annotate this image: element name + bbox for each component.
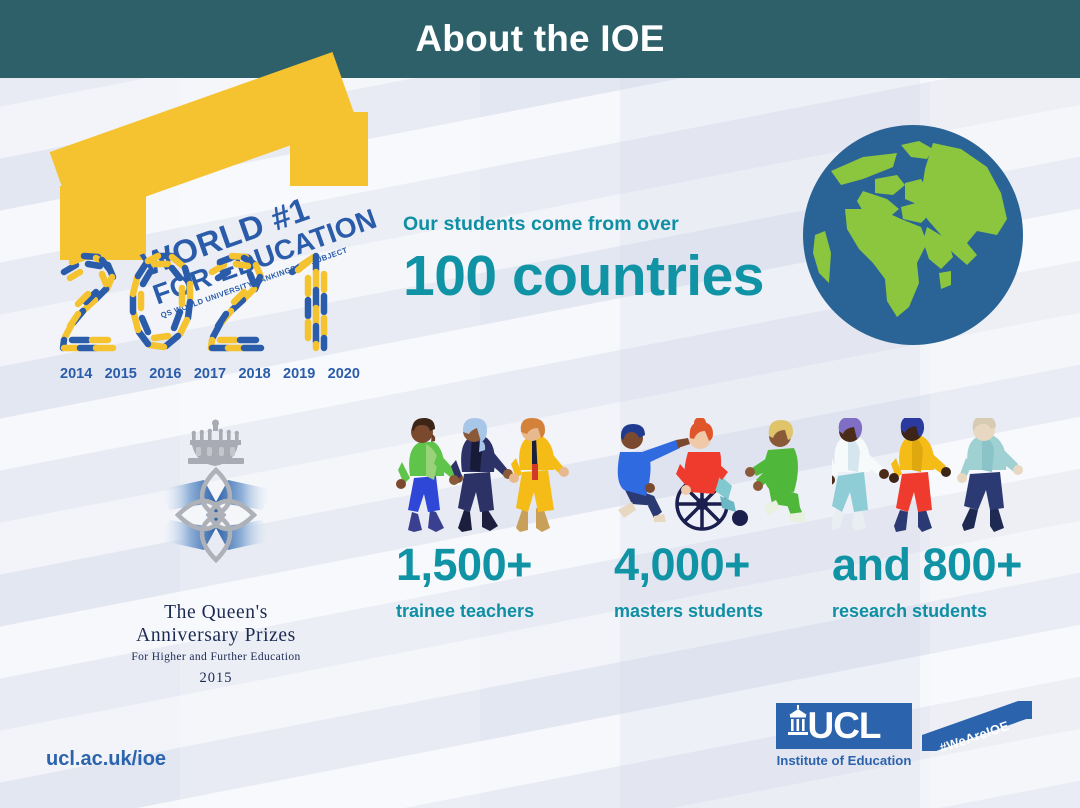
digit-2-a xyxy=(63,254,118,348)
person-yellow xyxy=(509,418,569,532)
year-label: 2019 xyxy=(283,366,315,382)
stat-value: 4,000+ xyxy=(614,542,814,587)
person-teal-navy xyxy=(957,418,1023,532)
previous-years-row: 2014 2015 2016 2017 2018 2019 2020 xyxy=(60,366,360,382)
year-digits-dashes xyxy=(58,248,358,360)
stat-label: trainee teachers xyxy=(396,601,596,622)
stat-value: 1,500+ xyxy=(396,542,596,587)
walking-people-icon xyxy=(832,418,1032,536)
person-wheelchair xyxy=(676,418,748,529)
seated-people-wheelchair-icon xyxy=(614,418,814,536)
walking-people-icon xyxy=(396,418,596,536)
queens-prize-line-3: For Higher and Further Education xyxy=(118,651,314,665)
hashtag-ribbon: #WeAreIOE xyxy=(922,701,1032,753)
year-label: 2016 xyxy=(149,366,181,382)
website-url[interactable]: ucl.ac.uk/ioe xyxy=(46,748,166,771)
queens-prize-line-2: Anniversary Prizes xyxy=(118,624,314,647)
queens-prize-text: The Queen's Anniversary Prizes For Highe… xyxy=(118,601,314,687)
digit-1 xyxy=(292,256,324,348)
person-white-coat xyxy=(832,418,889,531)
stats-row: 1,500+ trainee teachers xyxy=(396,418,1036,638)
year-label: 2017 xyxy=(194,366,226,382)
person-green-seated xyxy=(745,420,806,522)
countries-subtitle: Our students come from over xyxy=(403,213,764,236)
stat-trainee-teachers: 1,500+ trainee teachers xyxy=(396,418,596,638)
page-title: About the IOE xyxy=(415,18,664,60)
digit-0 xyxy=(133,256,190,347)
queens-prize-line-1: The Queen's xyxy=(118,601,314,624)
person-green xyxy=(396,418,463,532)
crown-icon xyxy=(188,420,244,467)
person-yellow-red xyxy=(889,418,951,532)
queens-anniversary-prize-logo: The Queen's Anniversary Prizes For Highe… xyxy=(118,418,314,698)
ribbon-knot-emblem xyxy=(158,470,274,560)
countries-stat: Our students come from over 100 countrie… xyxy=(403,213,764,305)
year-2021-graphic xyxy=(58,248,358,358)
crown-and-emblem-icon xyxy=(118,418,314,588)
globe-icon xyxy=(801,123,1026,348)
page-header: About the IOE xyxy=(0,0,1080,78)
countries-value: 100 countries xyxy=(403,248,764,305)
year-label: 2018 xyxy=(238,366,270,382)
year-label: 2015 xyxy=(105,366,137,382)
queens-prize-year: 2015 xyxy=(118,670,314,687)
digit-2-b xyxy=(211,256,261,348)
stat-label: research students xyxy=(832,601,1032,622)
infographic-poster: About the IOE WORLD #1 FOR EDUCATION QS … xyxy=(0,0,1080,808)
stat-value: and 800+ xyxy=(832,542,1032,587)
year-label: 2014 xyxy=(60,366,92,382)
stat-masters-students: 4,000+ masters students xyxy=(614,418,814,638)
person-navy xyxy=(449,418,513,532)
year-label: 2020 xyxy=(328,366,360,382)
ucl-sub-label: Institute of Education xyxy=(776,753,912,768)
stat-research-students: and 800+ research students xyxy=(832,418,1032,638)
ucl-logo: UCL xyxy=(776,703,912,749)
stat-label: masters students xyxy=(614,601,814,622)
world-ranking-ribbon: WORLD #1 FOR EDUCATION QS WORLD UNIVERSI… xyxy=(62,128,362,248)
ucl-wordmark: UCL xyxy=(776,703,912,749)
